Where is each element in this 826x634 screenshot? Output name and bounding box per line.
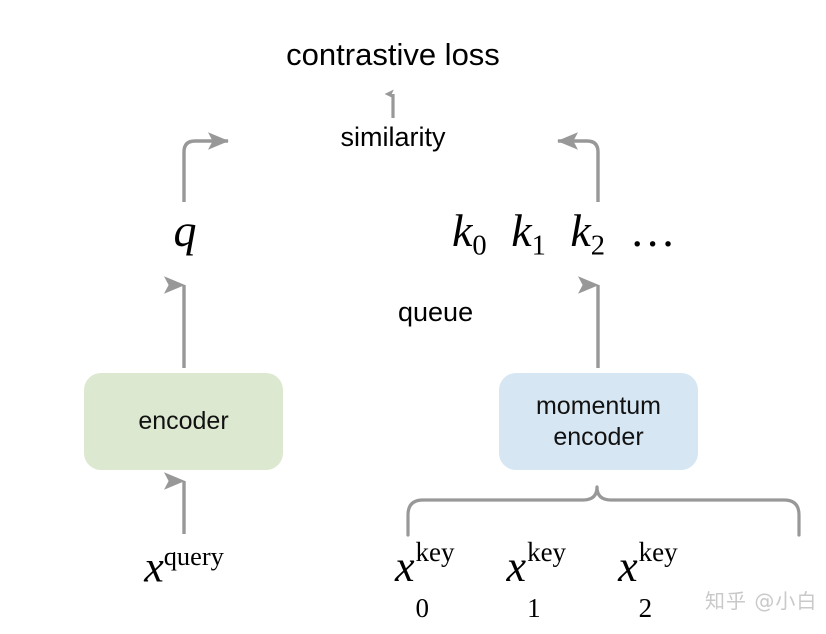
encoder-box-label: encoder xyxy=(138,407,228,436)
x1-base: x xyxy=(507,542,527,591)
x2-subscript: 2 xyxy=(639,593,653,625)
key-inputs-brace xyxy=(408,487,799,535)
moco-diagram: contrastive loss similarity queue q k0 k… xyxy=(0,0,826,634)
x1-superscript: key xyxy=(527,537,566,569)
similarity-label: similarity xyxy=(0,122,786,154)
momentum-encoder-box-label: momentum encoder xyxy=(536,391,661,453)
momentum-encoder-line-2: encoder xyxy=(553,423,643,451)
x1-subscript: 1 xyxy=(527,593,541,625)
key-representation-2: k2 xyxy=(570,205,605,256)
key-input-0: xkey0 xyxy=(395,542,478,591)
contrastive-loss-label: contrastive loss xyxy=(0,37,786,74)
momentum-encoder-box[interactable]: momentum encoder xyxy=(499,373,698,470)
watermark: 知乎 @小白 xyxy=(705,585,817,614)
q-base: q xyxy=(174,205,197,256)
key-representation-1: k1 xyxy=(511,205,546,256)
key-input-list: xkey0 xkey1 xkey2 xyxy=(395,541,701,593)
query-input-symbol: xquery xyxy=(0,541,368,593)
encoder-box[interactable]: encoder xyxy=(84,373,283,470)
x2-superscript: key xyxy=(639,537,678,569)
queue-label: queue xyxy=(398,297,473,329)
k0-subscript: 0 xyxy=(472,231,486,262)
key-representation-list: k0 k1 k2 … xyxy=(452,204,678,263)
xquery-base: x xyxy=(144,542,164,591)
query-representation-symbol: q xyxy=(0,204,370,258)
x0-superscript: key xyxy=(416,537,455,569)
k2-subscript: 2 xyxy=(591,231,605,262)
k1-base: k xyxy=(511,205,531,256)
key-input-1: xkey1 xyxy=(507,542,590,591)
k2-base: k xyxy=(570,205,590,256)
key-list-ellipsis: … xyxy=(630,205,678,256)
key-input-2: xkey2 xyxy=(618,542,701,591)
x0-base: x xyxy=(395,542,415,591)
k1-subscript: 1 xyxy=(532,231,546,262)
x0-subscript: 0 xyxy=(416,593,430,625)
k0-base: k xyxy=(452,205,472,256)
x2-base: x xyxy=(618,542,638,591)
momentum-encoder-line-1: momentum xyxy=(536,392,661,420)
xquery-superscript: query xyxy=(164,541,224,571)
key-representation-0: k0 xyxy=(452,205,487,256)
